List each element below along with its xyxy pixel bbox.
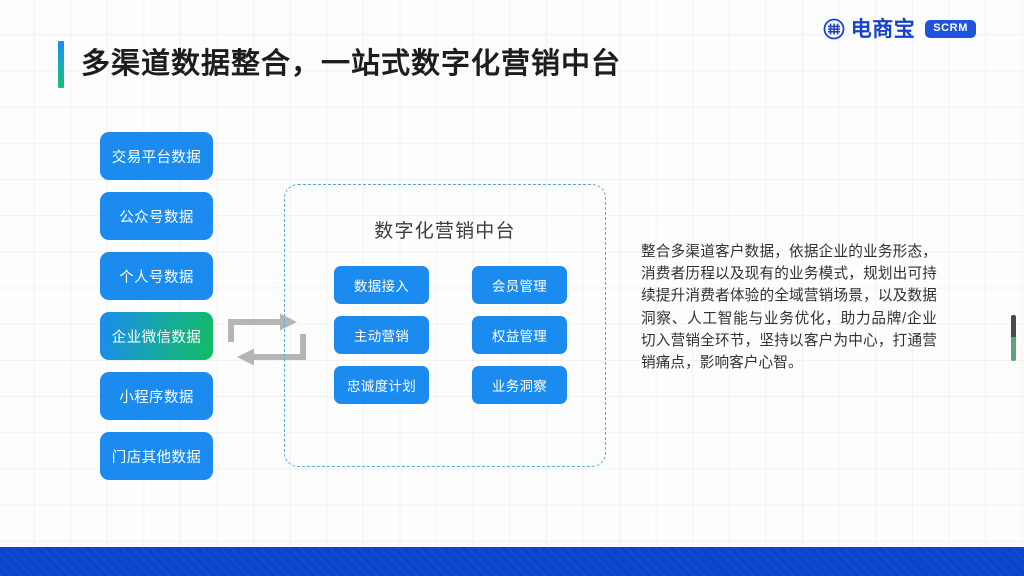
channel-chip-label: 个人号数据 (119, 266, 194, 287)
title-accent-bar (58, 41, 64, 88)
scrm-badge: SCRM (925, 20, 976, 38)
channel-chip-miniprogram[interactable]: 小程序数据 (100, 372, 213, 420)
channel-chip-label: 交易平台数据 (112, 146, 201, 167)
page-title: 多渠道数据整合，一站式数字化营销中台 (81, 50, 621, 79)
channel-chip-official-account[interactable]: 公众号数据 (100, 192, 213, 240)
marketing-platform-panel: 数字化营销中台 数据接入 会员管理 主动营销 权益管理 忠诚度计划 业务洞察 (284, 184, 606, 467)
module-chip-label: 主动营销 (354, 325, 409, 345)
module-chip-label: 忠诚度计划 (347, 375, 416, 395)
description-paragraph: 整合多渠道客户数据，依据企业的业务形态，消费者历程以及现有的业务模式，规划出可持… (641, 241, 937, 374)
platform-module-grid: 数据接入 会员管理 主动营销 权益管理 忠诚度计划 业务洞察 (334, 266, 556, 404)
module-chip-active-marketing[interactable]: 主动营销 (334, 316, 429, 354)
module-chip-business-insight[interactable]: 业务洞察 (472, 366, 567, 404)
channel-chip-personal-account[interactable]: 个人号数据 (100, 252, 213, 300)
module-chip-label: 权益管理 (492, 325, 547, 345)
channel-chip-wecom[interactable]: 企业微信数据 (100, 312, 213, 360)
brand-logo: 电商宝 SCRM (823, 18, 976, 40)
scroll-position-indicator[interactable] (1011, 315, 1016, 361)
platform-title: 数字化营销中台 (285, 216, 605, 243)
module-chip-benefits-management[interactable]: 权益管理 (472, 316, 567, 354)
channel-chip-store-other[interactable]: 门店其他数据 (100, 432, 213, 480)
channel-source-list: 交易平台数据 公众号数据 个人号数据 企业微信数据 小程序数据 门店其他数据 (100, 132, 213, 480)
circle-grid-logo-icon (823, 18, 845, 40)
page-title-row: 多渠道数据整合，一站式数字化营销中台 (58, 41, 621, 88)
channel-chip-label: 门店其他数据 (112, 446, 201, 467)
module-chip-loyalty-program[interactable]: 忠诚度计划 (334, 366, 429, 404)
channel-chip-transaction[interactable]: 交易平台数据 (100, 132, 213, 180)
channel-chip-label: 企业微信数据 (112, 326, 201, 347)
module-chip-label: 会员管理 (492, 275, 547, 295)
module-chip-label: 业务洞察 (492, 375, 547, 395)
channel-chip-label: 小程序数据 (119, 386, 194, 407)
module-chip-data-ingestion[interactable]: 数据接入 (334, 266, 429, 304)
module-chip-label: 数据接入 (354, 275, 409, 295)
module-chip-member-management[interactable]: 会员管理 (472, 266, 567, 304)
footer-bar (0, 547, 1024, 576)
channel-chip-label: 公众号数据 (119, 206, 194, 227)
brand-name: 电商宝 (851, 19, 916, 40)
slide-canvas: 电商宝 SCRM 多渠道数据整合，一站式数字化营销中台 交易平台数据 公众号数据… (0, 0, 1024, 576)
